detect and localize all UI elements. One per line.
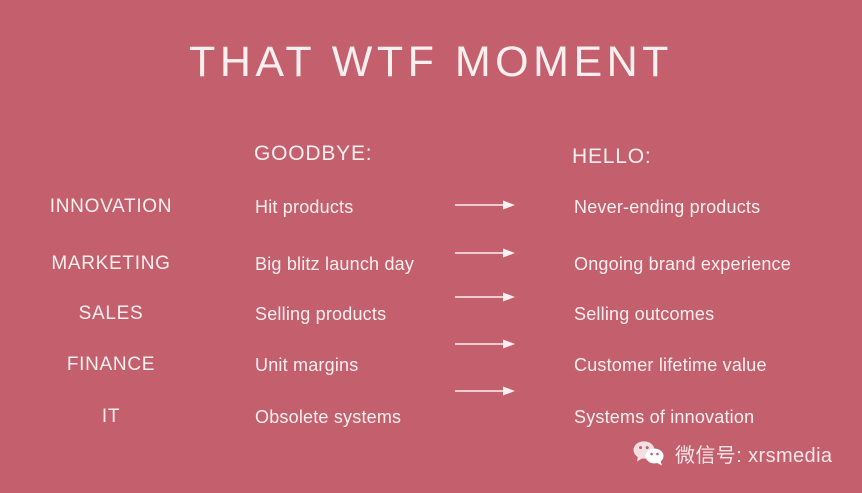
row-category-label: IT (11, 404, 211, 430)
column-header-goodbye: GOODBYE: (254, 142, 372, 166)
row-before-label: Obsolete systems (255, 404, 401, 430)
row-after-label: Selling outcomes (574, 301, 714, 327)
arrow-right-icon (455, 247, 515, 259)
watermark: 微信号: xrsmedia (632, 438, 832, 468)
table-row: IT Obsolete systems Systems of innovatio… (0, 404, 862, 430)
watermark-text: 微信号: xrsmedia (675, 439, 832, 468)
row-after-label: Never-ending products (574, 194, 760, 220)
arrow-right-icon (455, 385, 515, 397)
column-header-hello: HELLO: (572, 145, 652, 169)
row-before-label: Selling products (255, 301, 386, 327)
table-row: MARKETING Big blitz launch day Ongoing b… (0, 251, 862, 277)
arrow-right-icon (455, 338, 515, 350)
wechat-icon (632, 440, 666, 466)
row-after-label: Systems of innovation (574, 404, 754, 430)
arrow-right-icon (455, 199, 515, 211)
table-row: FINANCE Unit margins Customer lifetime v… (0, 352, 862, 378)
arrow-right-icon (455, 291, 515, 303)
row-after-label: Ongoing brand experience (574, 251, 791, 277)
row-category-label: FINANCE (11, 352, 211, 378)
row-before-label: Unit margins (255, 352, 358, 378)
row-category-label: INNOVATION (11, 194, 211, 220)
table-row: INNOVATION Hit products Never-ending pro… (0, 194, 862, 220)
row-after-label: Customer lifetime value (574, 352, 767, 378)
table-row: SALES Selling products Selling outcomes (0, 301, 862, 327)
row-before-label: Hit products (255, 194, 353, 220)
row-category-label: SALES (11, 301, 211, 327)
row-before-label: Big blitz launch day (255, 251, 414, 277)
row-category-label: MARKETING (11, 251, 211, 277)
slide-canvas: THAT WTF MOMENT GOODBYE: HELLO: INNOVATI… (0, 0, 862, 493)
page-title: THAT WTF MOMENT (0, 38, 862, 87)
